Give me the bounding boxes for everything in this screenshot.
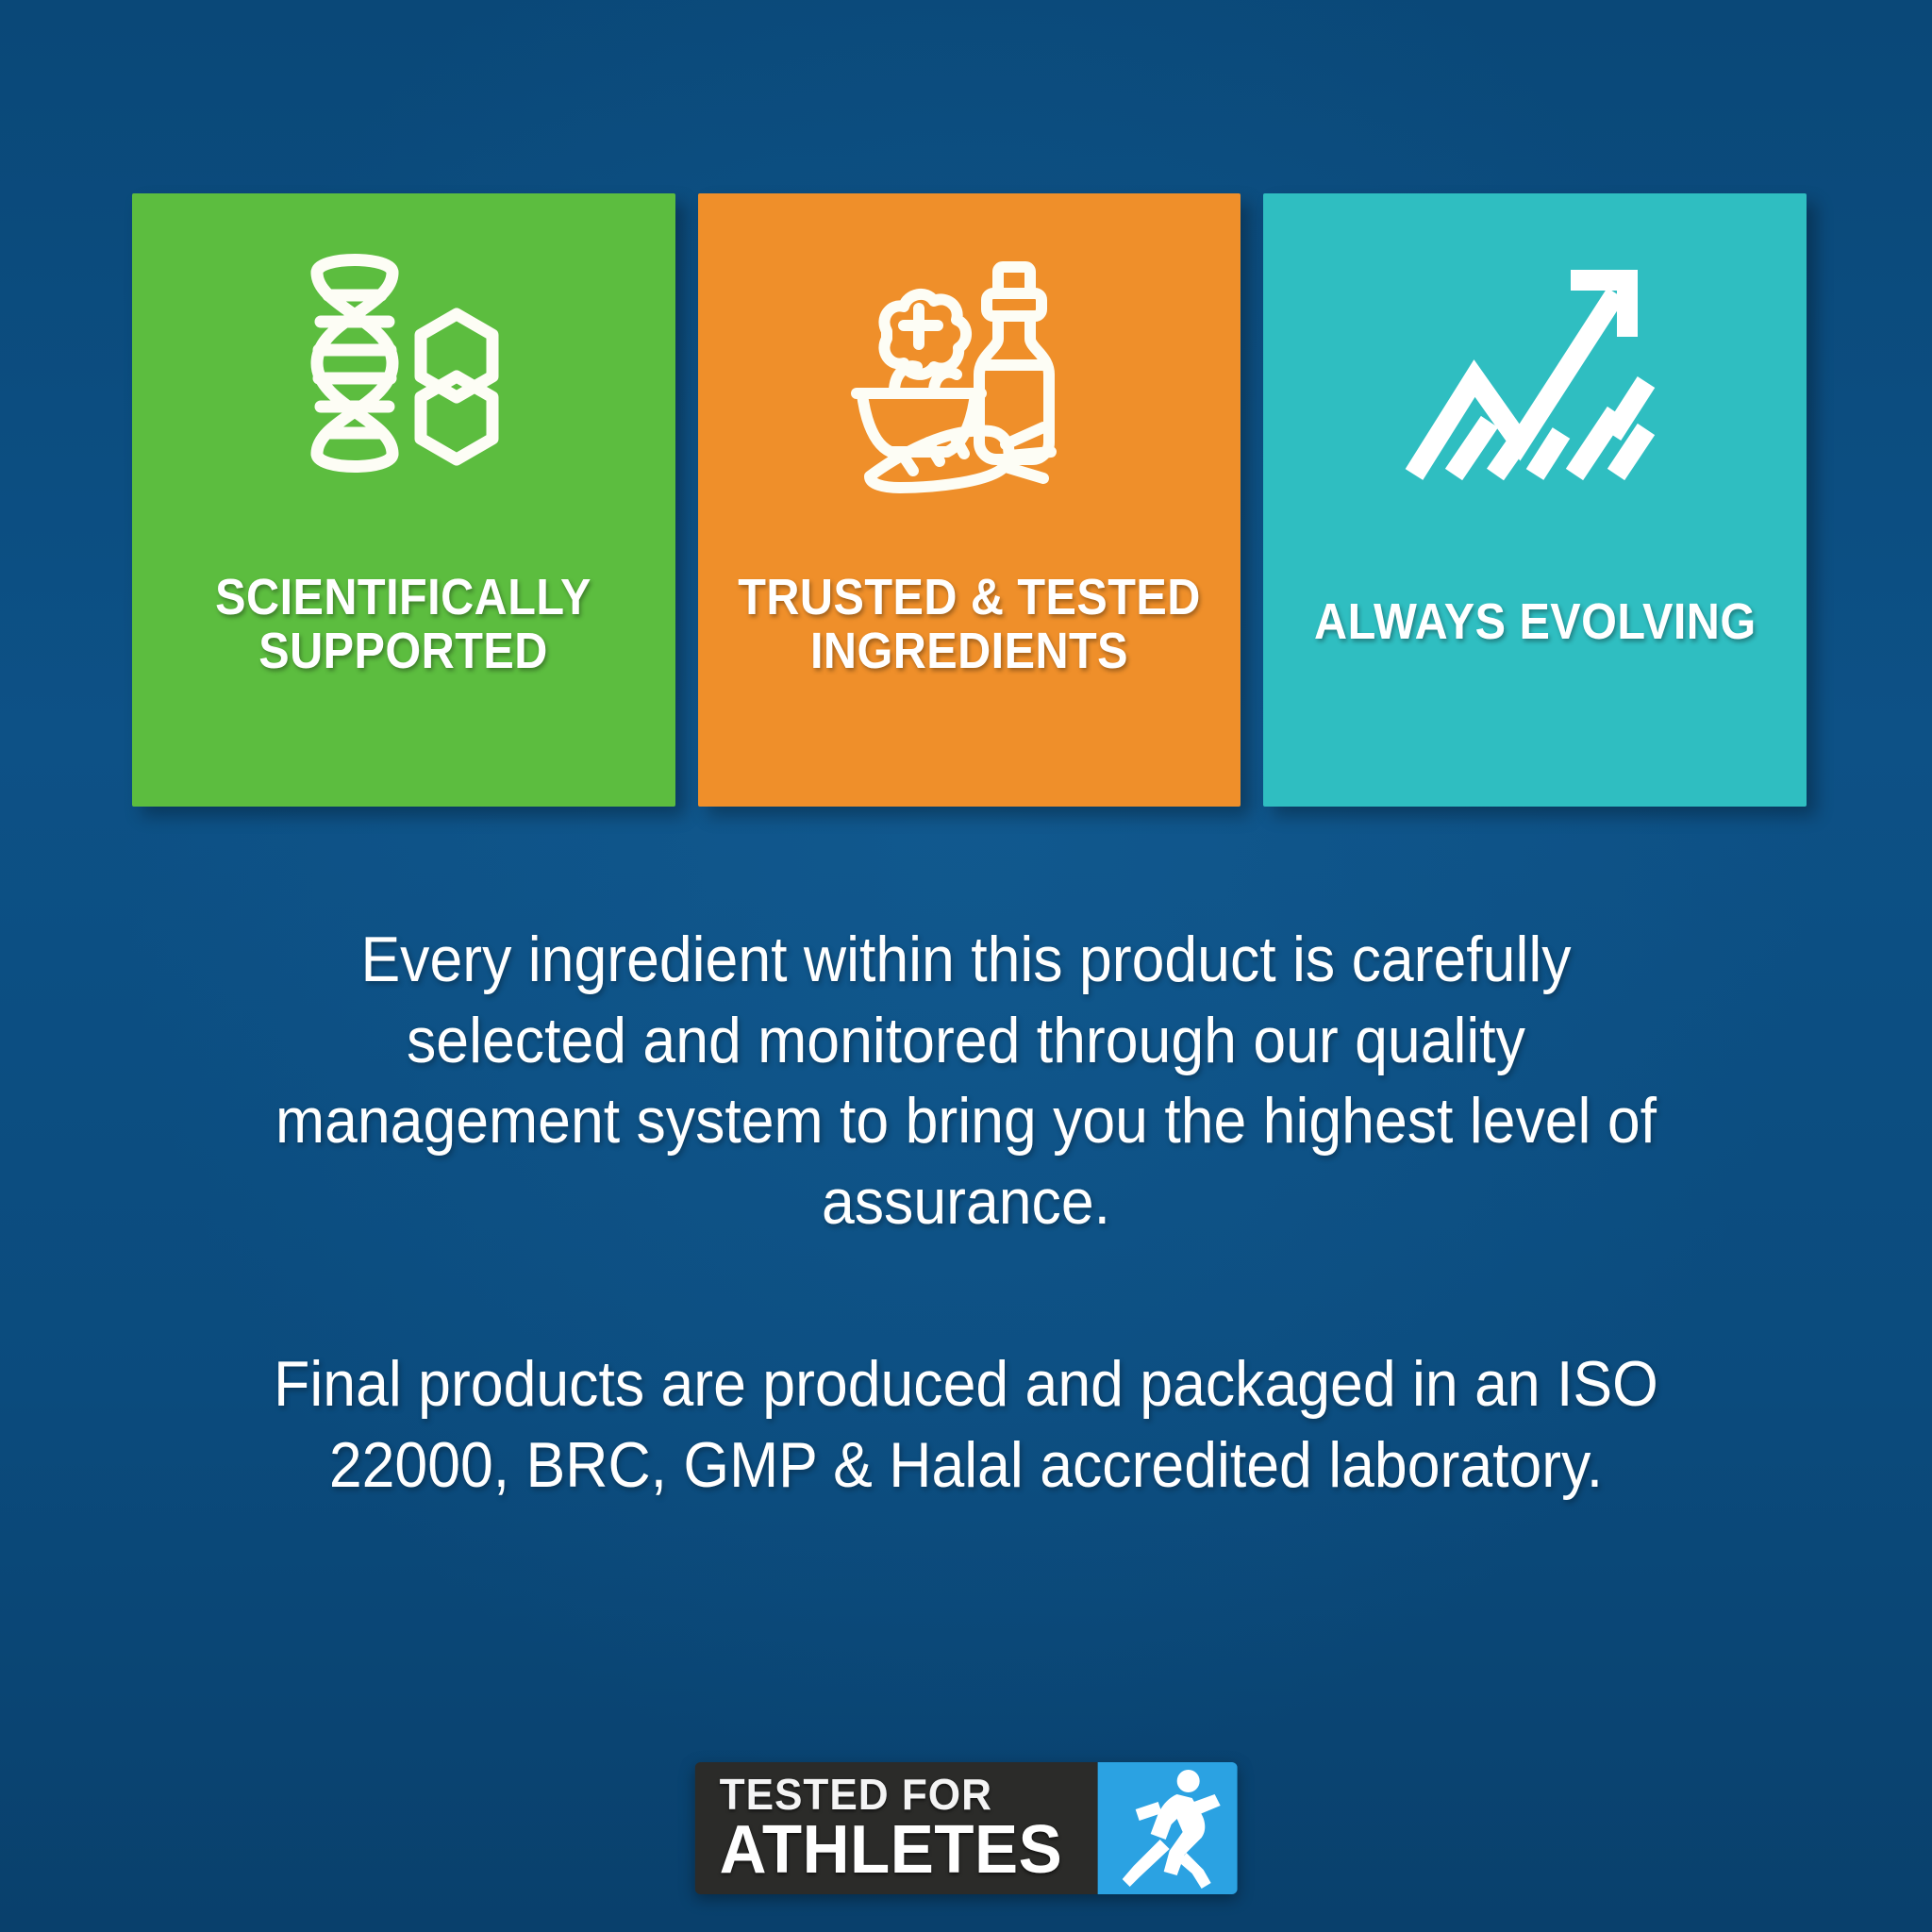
body-paragraph-1: Every ingredient within this product is …	[245, 920, 1686, 1243]
running-athlete-icon	[1097, 1762, 1237, 1894]
body-paragraph-2: Final products are produced and packaged…	[245, 1344, 1686, 1506]
badge-text-panel: TESTED FOR ATHLETES	[695, 1762, 1098, 1894]
feature-card-label: TRUSTED & TESTED INGREDIENTS	[726, 571, 1213, 678]
feature-card-scientifically-supported[interactable]: SCIENTIFICALLY SUPPORTED	[132, 193, 675, 807]
growth-chart-arrow-icon	[1263, 193, 1807, 571]
feature-card-row: SCIENTIFICALLY SUPPORTED	[132, 193, 1807, 807]
feature-card-always-evolving[interactable]: ALWAYS EVOLVING	[1263, 193, 1807, 807]
badge-line-athletes: ATHLETES	[720, 1818, 1063, 1883]
body-paragraph-1-container: Every ingredient within this product is …	[183, 920, 1749, 1243]
feature-card-trusted-tested-ingredients[interactable]: TRUSTED & TESTED INGREDIENTS	[698, 193, 1241, 807]
dna-molecule-icon	[132, 193, 675, 571]
vegetables-bottle-icon	[698, 193, 1241, 571]
body-paragraph-2-container: Final products are produced and packaged…	[183, 1344, 1749, 1506]
tested-for-athletes-badge: TESTED FOR ATHLETES	[695, 1762, 1238, 1894]
promo-graphic: SCIENTIFICALLY SUPPORTED	[0, 0, 1932, 1932]
badge-line-tested-for: TESTED FOR	[720, 1773, 992, 1816]
feature-card-label: SCIENTIFICALLY SUPPORTED	[204, 571, 604, 678]
feature-card-label: ALWAYS EVOLVING	[1302, 595, 1768, 649]
